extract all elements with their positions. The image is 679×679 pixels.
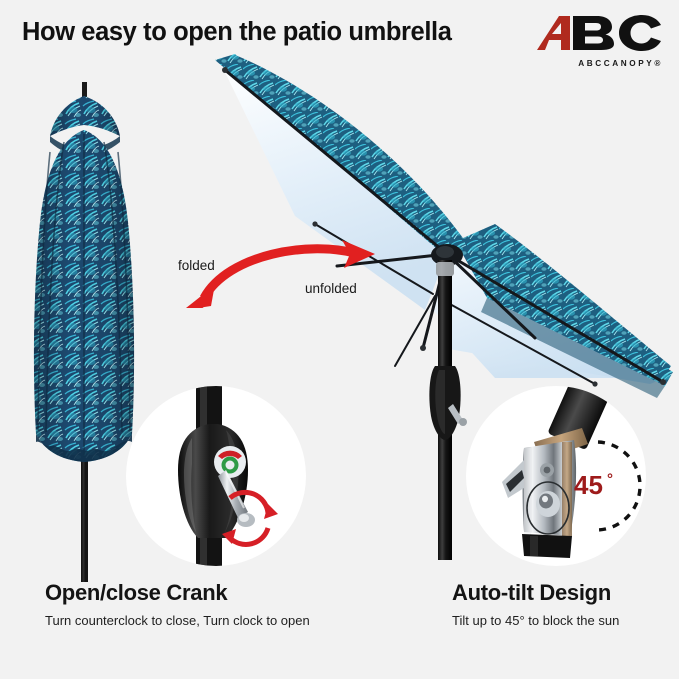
tilt-caption-title: Auto-tilt Design	[452, 580, 679, 606]
crank-mechanism-icon	[126, 386, 306, 566]
product-infographic: How easy to open the patio umbrella ABCC…	[0, 0, 679, 679]
label-unfolded: unfolded	[305, 281, 357, 296]
tilt-caption: Auto-tilt Design Tilt up to 45° to block…	[452, 580, 679, 628]
tilt-detail-circle: 45 °	[466, 386, 646, 566]
page-title: How easy to open the patio umbrella	[22, 18, 452, 47]
abc-logo-icon	[537, 14, 665, 52]
crank-detail-circle	[126, 386, 306, 566]
crank-caption: Open/close Crank Turn counterclock to cl…	[45, 580, 375, 628]
tilt-angle-value: 45	[574, 470, 603, 500]
crank-caption-title: Open/close Crank	[45, 580, 375, 606]
tilt-mechanism-icon: 45 °	[466, 386, 646, 566]
tilt-angle-degree-symbol: °	[607, 471, 613, 488]
label-folded: folded	[178, 258, 215, 273]
crank-caption-subtitle: Turn counterclock to close, Turn clock t…	[45, 613, 375, 628]
tilt-caption-subtitle: Tilt up to 45° to block the sun	[452, 613, 679, 628]
